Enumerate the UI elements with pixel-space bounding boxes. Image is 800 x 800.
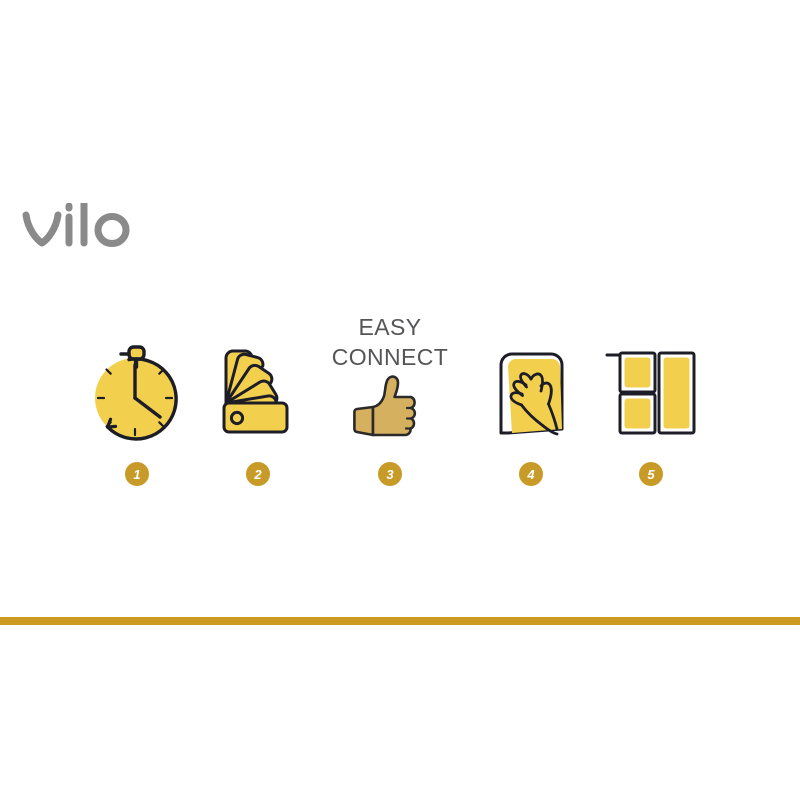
feature-item-3: EASY CONNECT [315, 300, 465, 500]
feature-item-5: 5 [576, 300, 726, 500]
caption-line-1: EASY [315, 312, 465, 342]
color-swatch-fan-icon [183, 338, 333, 448]
brand-logo: vilo [22, 200, 162, 252]
panel-layout-icon [576, 338, 726, 448]
step-badge-4: 4 [519, 462, 543, 486]
slide-canvas: vilo [0, 0, 800, 800]
step-badge-3: 3 [378, 462, 402, 486]
feature-icon-row: 1 2 [0, 300, 800, 500]
step-badge-2: 2 [246, 462, 270, 486]
thumbs-up-icon [315, 362, 465, 448]
step-badge-5: 5 [639, 462, 663, 486]
gold-divider [0, 617, 800, 625]
feature-item-2: 2 [183, 300, 333, 500]
step-badge-1: 1 [125, 462, 149, 486]
